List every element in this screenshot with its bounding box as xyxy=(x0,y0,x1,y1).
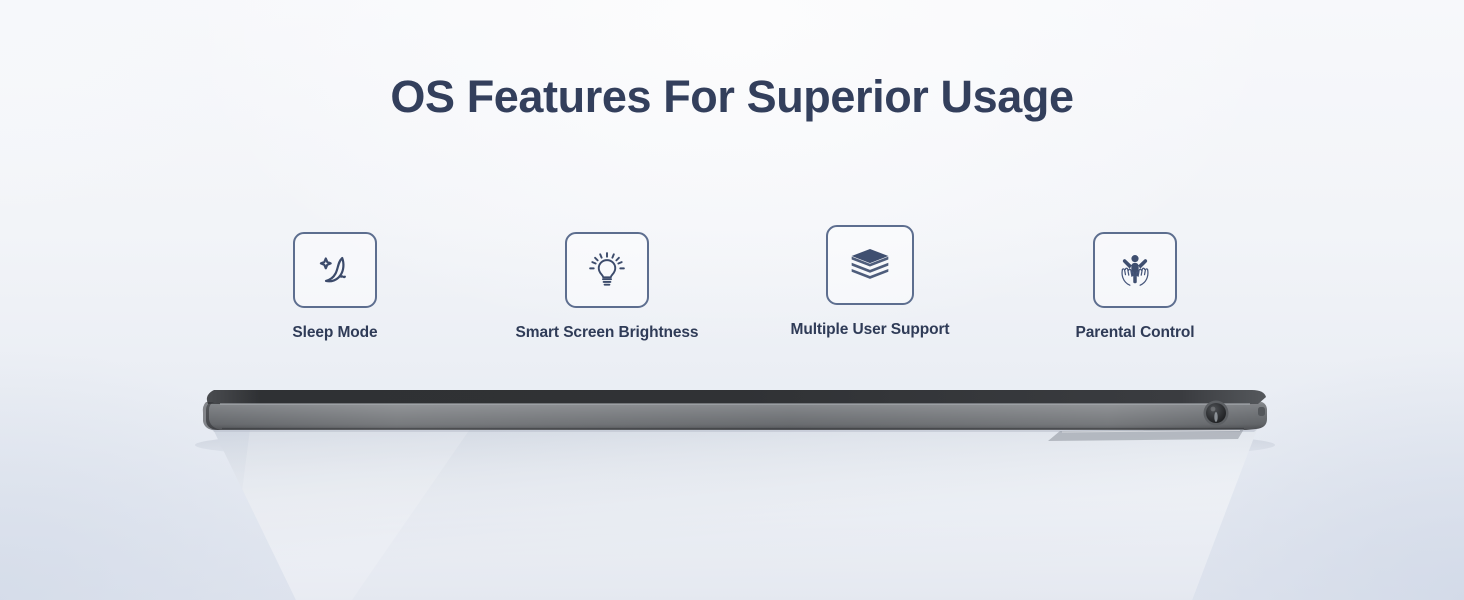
tablet-edge-illustration xyxy=(0,385,1464,600)
feature-label: Multiple User Support xyxy=(720,321,1020,339)
device-top-bevel xyxy=(207,390,1266,404)
os-features-banner: OS Features For Superior Usage Sleep Mod… xyxy=(0,0,1464,600)
layer-stack-icon xyxy=(848,243,892,287)
feature-label: Smart Screen Brightness xyxy=(457,324,757,342)
feature-item-smart-screen-brightness[interactable]: Smart Screen Brightness xyxy=(457,232,757,342)
feature-item-multiple-user-support[interactable]: Multiple User Support xyxy=(720,225,1020,339)
feature-label: Parental Control xyxy=(985,324,1285,342)
light-bulb-icon xyxy=(585,248,629,292)
feature-item-parental-control[interactable]: Parental Control xyxy=(985,232,1285,342)
feature-item-sleep-mode[interactable]: Sleep Mode xyxy=(185,232,485,342)
feature-list: Sleep Mode xyxy=(0,222,1464,362)
moon-stars-icon xyxy=(312,247,358,293)
feature-icon-box xyxy=(565,232,649,308)
device-side-button xyxy=(1258,407,1265,416)
feature-icon-box xyxy=(1093,232,1177,308)
feature-label: Sleep Mode xyxy=(185,324,485,342)
headphone-jack-port xyxy=(1204,401,1229,426)
page-title: OS Features For Superior Usage xyxy=(0,72,1464,122)
hands-child-icon xyxy=(1113,248,1157,292)
tablet-device-image xyxy=(0,385,1464,600)
feature-icon-box xyxy=(826,225,914,305)
device-rail-sheen xyxy=(206,401,1267,430)
feature-icon-box xyxy=(293,232,377,308)
device-back-panel xyxy=(150,423,1330,600)
